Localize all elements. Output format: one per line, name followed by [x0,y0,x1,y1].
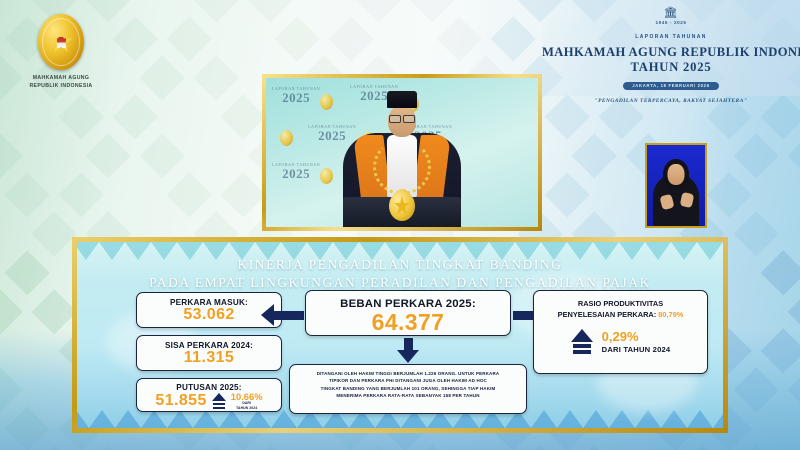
podium-seal-icon [389,191,415,221]
header-tagline: "PENGADILAN TERPERCAYA, RAKYAT SEJAHTERA… [542,98,800,104]
panel-fringe-triangle [687,410,713,428]
card-beban-perkara-value: 64.377 [306,310,510,334]
backdrop-seal-icon [280,130,293,146]
panel-fringe-triangle [245,410,271,428]
card-sisa-perkara[interactable]: SISA PERKARA 2024: 11.315 [136,335,282,371]
panel-fringe-triangle [713,410,728,428]
panel-fringe-triangle [141,410,167,428]
report-header-banner: 🏛 1945 - 2025 LAPORAN TAHUNAN MAHKAMAH A… [542,0,800,96]
card-rasio-delta-from: DARI TAHUN 2024 [602,345,671,354]
card-rasio-label-line2: PENYELESAIAN PERKARA: 80,79% [534,310,707,321]
card-putusan-delta: 10.66% [231,392,263,401]
sign-language-interpreter-inset[interactable] [645,143,707,228]
logo-caption-line2: REPUBLIK INDONESIA [22,83,100,91]
panel-fringe-triangle [723,242,728,260]
card-rasio-value: 80,79% [658,310,683,319]
backdrop-watermark: LAPORAN TAHUNAN 2025 [272,162,320,180]
footnote-line1: DITANGANI OLEH HAKIM TINGGI BERJUMLAH 1.… [297,370,519,377]
infographic-panel: KINERJA PENGADILAN TINGKAT BANDING PADA … [72,237,728,433]
card-putusan[interactable]: PUTUSAN 2025: 51.855 10.66% DARI TAHUN 2… [136,378,282,412]
panel-fringe-triangle [661,410,687,428]
backdrop-watermark: LAPORAN TAHUNAN 2025 [272,86,320,104]
header-date-pill: JAKARTA, 18 FEBRUARI 2026 [623,82,718,90]
chief-justice-figure [337,77,467,227]
panel-fringe-triangle [89,410,115,428]
screen: MAHKAMAH AGUNG REPUBLIK INDONESIA 🏛 1945… [0,0,800,450]
header-year: TAHUN 2025 [542,60,800,74]
card-rasio-produktivitas[interactable]: RASIO PRODUKTIVITAS PENYELESAIAN PERKARA… [533,290,708,374]
logo-caption-line1: MAHKAMAH AGUNG [22,75,100,83]
panel-title-line1: KINERJA PENGADILAN TINGKAT BANDING [77,256,723,274]
panel-title: KINERJA PENGADILAN TINGKAT BANDING PADA … [77,242,723,292]
trend-up-icon [571,329,593,354]
panel-fringe-triangle [219,410,245,428]
card-rasio-delta: 0,29% [602,330,671,344]
card-rasio-label-prefix: PENYELESAIAN PERKARA: [558,310,659,319]
backdrop-seal-icon [320,94,333,110]
header-kicker: LAPORAN TAHUNAN [635,34,706,40]
panel-fringe-triangle [609,410,635,428]
panel-fringe-triangle [72,410,89,428]
footnote-line4: MENERIMA PERKARA RATA-RATA SEBANYAK 158 … [297,392,519,399]
card-beban-perkara[interactable]: BEBAN PERKARA 2025: 64.377 [305,290,511,336]
card-sisa-perkara-value: 11.315 [137,350,281,367]
card-rasio-label-line1: RASIO PRODUKTIVITAS [534,299,707,310]
panel-fringe-triangle [583,410,609,428]
trend-up-icon [212,393,226,409]
panel-fringe-triangle [531,410,557,428]
footnote-line2: TIPIKOR DAN PERKARA PHI DITANGANI JUGA O… [297,377,519,384]
header-title: MAHKAMAH AGUNG REPUBLIK INDONESIA [542,45,800,60]
arrow-down-icon [397,338,419,363]
eyeglasses-icon [389,115,415,121]
header-years-mark: 1945 - 2025 [542,20,800,25]
card-footnote: DITANGANI OLEH HAKIM TINGGI BERJUMLAH 1.… [289,364,527,414]
mahkamah-agung-logo: MAHKAMAH AGUNG REPUBLIK INDONESIA [22,14,100,90]
card-putusan-value: 51.855 [155,393,206,410]
arrow-left-icon [261,304,304,326]
card-putusan-delta-sub2: TAHUN 2024 [231,406,263,410]
panel-fringe-triangle [557,410,583,428]
backdrop-seal-icon [320,168,333,184]
footnote-line3: TINGKAT BANDING YANG BERJUMLAH 101 ORANG… [297,385,519,392]
panel-fringe-triangle [193,410,219,428]
panel-fringe-triangle [635,410,661,428]
courthouse-icon: 🏛 [542,8,800,19]
panel-fringe-triangle [115,410,141,428]
panel-fringe-triangle [167,410,193,428]
mahkamah-agung-emblem-icon [38,14,84,70]
broadcast-video-frame[interactable]: LAPORAN TAHUNAN 2025 LAPORAN TAHUNAN 202… [262,74,542,231]
card-perkara-masuk-value: 53.062 [137,307,281,324]
